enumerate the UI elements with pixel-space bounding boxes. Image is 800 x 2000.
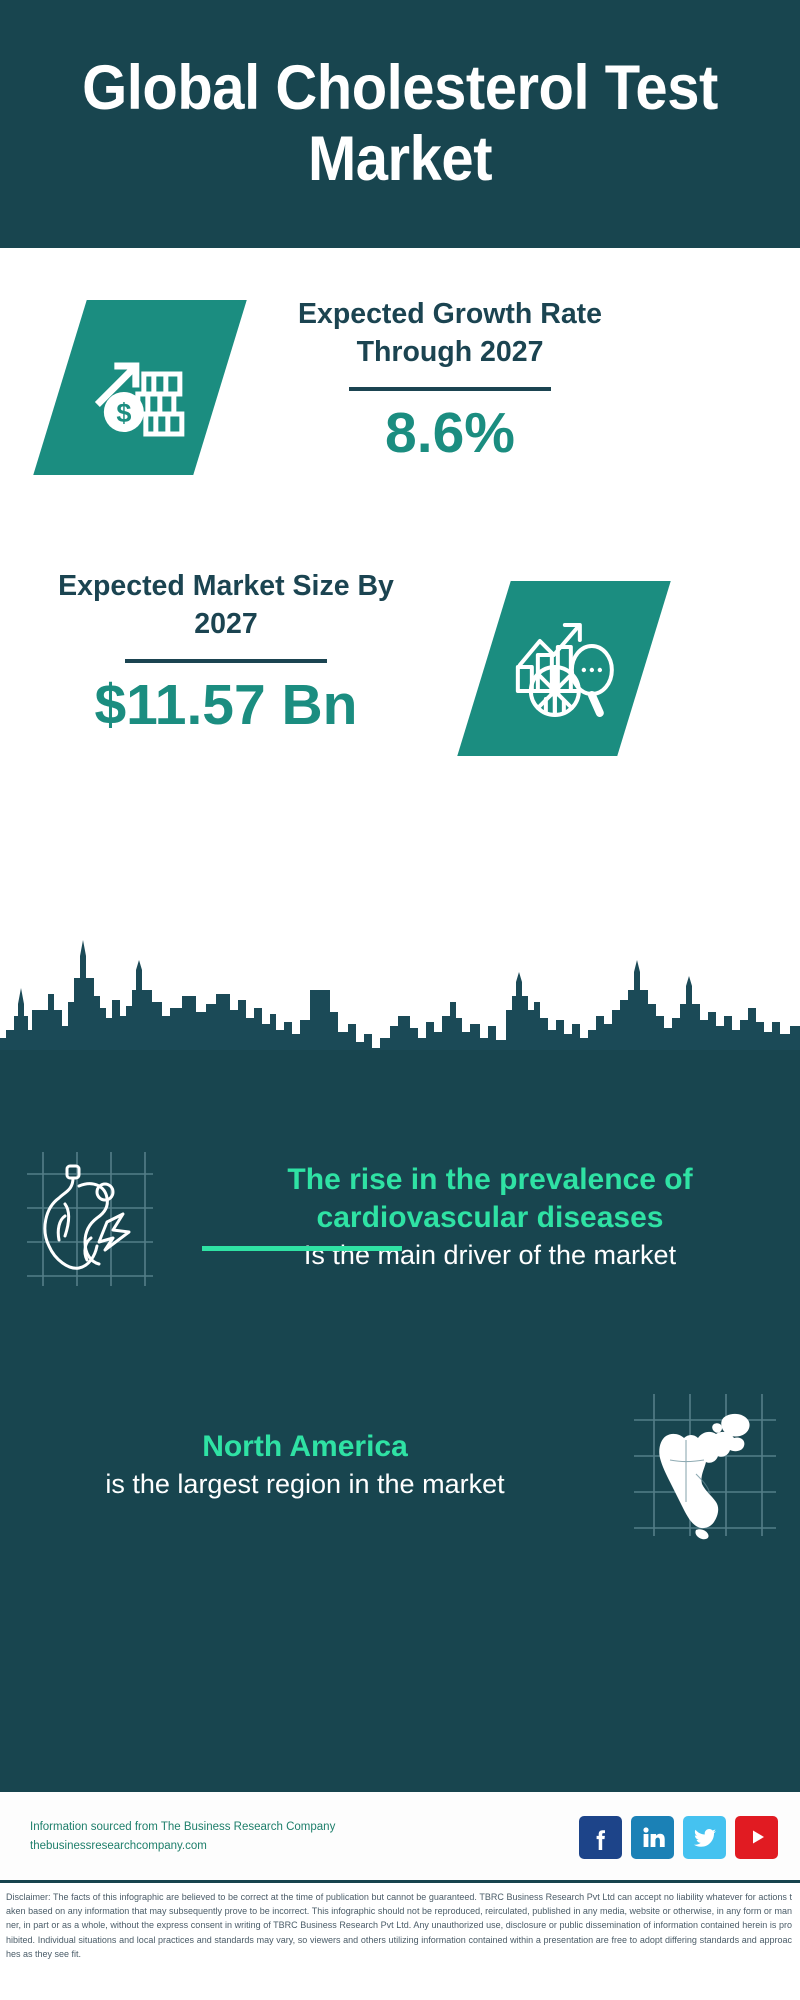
fact-driver: The rise in the prevalence of cardiovasc… [0, 1146, 800, 1288]
chart-magnifier-icon [510, 615, 618, 723]
north-america-map-icon-wrap [610, 1390, 800, 1540]
market-size-value: $11.57 Bn [54, 676, 398, 736]
city-skyline-graphic [0, 938, 800, 1056]
page-title: Global Cholesterol Test Market [32, 53, 768, 194]
money-growth-icon: $ [88, 336, 192, 440]
facts-section: The rise in the prevalence of cardiovasc… [0, 1050, 800, 1790]
money-growth-icon-tile: $ [33, 300, 247, 475]
fact-region-subline: is the largest region in the market [8, 1467, 602, 1502]
growth-rate-value: 8.6% [278, 404, 622, 464]
fact-driver-headline: The rise in the prevalence of cardiovasc… [188, 1161, 792, 1237]
heart-icon [19, 1146, 161, 1288]
heart-icon-wrap [0, 1146, 180, 1288]
north-america-map-icon [630, 1390, 780, 1540]
infographic-page: Global Cholesterol Test Market $ [0, 0, 800, 2000]
disclaimer-text: Disclaimer: The facts of this infographi… [0, 1883, 800, 1961]
twitter-icon[interactable] [683, 1816, 726, 1859]
youtube-icon[interactable] [735, 1816, 778, 1859]
fact-driver-subline: Is the main driver of the market [188, 1238, 792, 1273]
section-divider [202, 1246, 402, 1251]
disclaimer-section: Disclaimer: The facts of this infographi… [0, 1880, 800, 2000]
fact-region-copy: North America is the largest region in t… [0, 1428, 610, 1501]
header-banner: Global Cholesterol Test Market [0, 0, 800, 248]
source-bar: Information sourced from The Business Re… [0, 1790, 800, 1882]
source-credit: Information sourced from The Business Re… [30, 1818, 335, 1856]
growth-rate-label: Expected Growth Rate Through 2027 [278, 296, 622, 372]
source-line-1: Information sourced from The Business Re… [30, 1818, 335, 1837]
fact-region: North America is the largest region in t… [0, 1390, 800, 1540]
facebook-icon[interactable] [579, 1816, 622, 1859]
svg-text:$: $ [116, 398, 131, 428]
market-size-label: Expected Market Size By 2027 [54, 568, 398, 644]
linkedin-icon[interactable] [631, 1816, 674, 1859]
fact-driver-copy: The rise in the prevalence of cardiovasc… [180, 1161, 800, 1272]
growth-rate-block: Expected Growth Rate Through 2027 8.6% [278, 296, 622, 464]
chart-magnifier-icon-tile [457, 581, 671, 756]
stats-section: $ Expected Growth Rate Through 2027 8.6%… [0, 248, 800, 988]
fact-region-headline: North America [8, 1428, 602, 1466]
source-line-2[interactable]: thebusinessresearchcompany.com [30, 1837, 335, 1856]
skyline-silhouette [0, 938, 800, 1056]
divider [349, 387, 551, 391]
divider [125, 659, 327, 663]
social-links [579, 1816, 778, 1859]
market-size-block: Expected Market Size By 2027 $11.57 Bn [54, 568, 398, 736]
